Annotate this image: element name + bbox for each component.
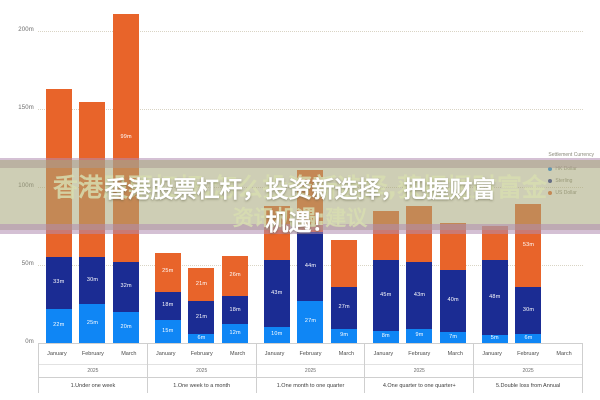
bar-segment[interactable]	[331, 240, 357, 287]
bar-segment[interactable]: 20m	[113, 312, 139, 343]
x-axis-month-label: February	[75, 344, 111, 364]
x-axis-year-label: 2025	[148, 365, 256, 378]
x-axis-months: JanuaryFebruaryMarch	[39, 344, 147, 365]
x-axis-month-label: January	[39, 344, 75, 364]
bar-value-label: 32m	[120, 284, 131, 290]
bar-segment[interactable]: 6m	[188, 334, 214, 343]
x-axis-month-label: March	[328, 344, 364, 364]
x-axis-months: JanuaryFebruaryMarch	[257, 344, 365, 365]
y-axis-tick-label: 50m	[4, 261, 34, 267]
bar-value-label: 15m	[162, 329, 173, 335]
bar-segment[interactable]: 32m	[113, 262, 139, 312]
y-axis-tick-label: 200m	[4, 27, 34, 33]
x-axis-group: JanuaryFebruaryMarch20251.One month to o…	[257, 344, 366, 393]
bar-segment[interactable]: 44m	[297, 232, 323, 301]
bar-segment[interactable]: 21m	[188, 268, 214, 301]
bar-segment[interactable]: 18m	[155, 292, 181, 320]
x-axis-group-label: 1.Under one week	[39, 378, 147, 393]
x-axis-year-label: 2025	[474, 365, 582, 378]
bar-value-label: 26m	[229, 273, 240, 279]
bar-value-label: 43m	[271, 291, 282, 297]
x-axis-month-label: March	[546, 344, 582, 364]
bar-segment[interactable]: 45m	[373, 260, 399, 330]
bar-segment[interactable]: 43m	[406, 262, 432, 329]
bar-segment[interactable]: 27m	[331, 287, 357, 329]
bar-segment[interactable]: 7m	[440, 332, 466, 343]
x-axis: JanuaryFebruaryMarch20251.Under one week…	[38, 343, 583, 393]
x-axis-month-label: January	[257, 344, 293, 364]
x-axis-year-label: 2025	[39, 365, 147, 378]
bar-value-label: 18m	[229, 308, 240, 314]
x-axis-group: JanuaryFebruaryMarch20251.Under one week	[38, 344, 148, 393]
bar-segment[interactable]: 25m	[155, 253, 181, 292]
y-axis-tick-label: 150m	[4, 105, 34, 111]
bar-value-label: 44m	[305, 264, 316, 270]
bar-value-label: 45m	[380, 293, 391, 299]
bar-value-label: 30m	[523, 308, 534, 314]
x-axis-month-label: February	[510, 344, 546, 364]
bar-segment[interactable]: 25m	[79, 304, 105, 343]
bar-segment[interactable]: 12m	[222, 324, 248, 343]
bar-value-label: 21m	[196, 315, 207, 321]
bar-value-label: 33m	[53, 280, 64, 286]
bar-value-label: 30m	[87, 278, 98, 284]
overlay-headline-line1: 香港股票杠杆，投资新选择，把握财富	[0, 170, 600, 204]
bar-value-label: 20m	[120, 325, 131, 331]
bar-segment[interactable]: 33m	[46, 257, 72, 308]
x-axis-year-label: 2025	[257, 365, 365, 378]
x-axis-group-label: 4.One quarter to one quarter+	[365, 378, 473, 393]
x-axis-group: JanuaryFebruaryMarch20255.Double loss fr…	[474, 344, 583, 393]
bar-value-label: 25m	[162, 269, 173, 275]
bar-segment[interactable]: 43m	[264, 260, 290, 327]
bar-segment[interactable]: 21m	[188, 301, 214, 334]
x-axis-year-label: 2025	[365, 365, 473, 378]
bar-value-label: 27m	[338, 305, 349, 311]
bar-segment[interactable]: 26m	[222, 256, 248, 297]
bar-value-label: 22m	[53, 323, 64, 329]
bar-value-label: 18m	[162, 303, 173, 309]
x-axis-months: JanuaryFebruaryMarch	[148, 344, 256, 365]
x-axis-group-label: 1.One week to a month	[148, 378, 256, 393]
x-axis-month-label: February	[401, 344, 437, 364]
x-axis-month-label: January	[474, 344, 510, 364]
bar-value-label: 9m	[340, 333, 348, 339]
x-axis-months: JanuaryFebruaryMarch	[365, 344, 473, 365]
bar-segment[interactable]: 5m	[482, 335, 508, 343]
bar-segment[interactable]: 6m	[515, 334, 541, 343]
x-axis-group-label: 5.Double loss from Annual	[474, 378, 582, 393]
bar-value-label: 53m	[523, 243, 534, 249]
x-axis-group: JanuaryFebruaryMarch20251.One week to a …	[148, 344, 257, 393]
bar-segment[interactable]: 48m	[482, 260, 508, 335]
x-axis-month-label: March	[220, 344, 256, 364]
bar-segment[interactable]: 18m	[222, 296, 248, 324]
x-axis-month-label: March	[437, 344, 473, 364]
y-axis-tick-label: 0m	[4, 339, 34, 345]
x-axis-month-label: February	[293, 344, 329, 364]
bar-value-label: 5m	[491, 336, 499, 342]
bar-value-label: 43m	[414, 293, 425, 299]
x-axis-group: JanuaryFebruaryMarch20254.One quarter to…	[365, 344, 474, 393]
chart-screenshot: 0m50m100m150m200m 33m22m30m25m99m32m20m2…	[0, 0, 600, 400]
bar-value-label: 40m	[447, 298, 458, 304]
bar-segment[interactable]: 15m	[155, 320, 181, 343]
bar-segment[interactable]: 30m	[515, 287, 541, 334]
bar-value-label: 7m	[449, 335, 457, 341]
x-axis-month-label: March	[111, 344, 147, 364]
x-axis-group-label: 1.One month to one quarter	[257, 378, 365, 393]
x-axis-months: JanuaryFebruaryMarch	[474, 344, 582, 365]
x-axis-month-label: January	[365, 344, 401, 364]
overlay-headline-line2: 机遇！	[0, 203, 600, 237]
bar-value-label: 6m	[524, 336, 532, 342]
bar-segment[interactable]: 9m	[331, 329, 357, 343]
bar-value-label: 12m	[229, 331, 240, 337]
bar-value-label: 8m	[382, 334, 390, 340]
x-axis-month-label: January	[148, 344, 184, 364]
bar-segment[interactable]: 10m	[264, 327, 290, 343]
bar-segment[interactable]: 9m	[406, 329, 432, 343]
bar-value-label: 9m	[415, 333, 423, 339]
bar-value-label: 10m	[271, 332, 282, 338]
bar-segment[interactable]: 22m	[46, 309, 72, 343]
bar-value-label: 99m	[120, 135, 131, 141]
bar-segment[interactable]: 40m	[440, 270, 466, 332]
x-axis-month-label: February	[184, 344, 220, 364]
bar-value-label: 21m	[196, 282, 207, 288]
bar-value-label: 48m	[489, 295, 500, 301]
bar-value-label: 27m	[305, 319, 316, 325]
bar-segment[interactable]: 30m	[79, 257, 105, 304]
bar-segment[interactable]: 8m	[373, 331, 399, 343]
bar-value-label: 25m	[87, 321, 98, 327]
bar-value-label: 6m	[197, 336, 205, 342]
bar-segment[interactable]: 27m	[297, 301, 323, 343]
